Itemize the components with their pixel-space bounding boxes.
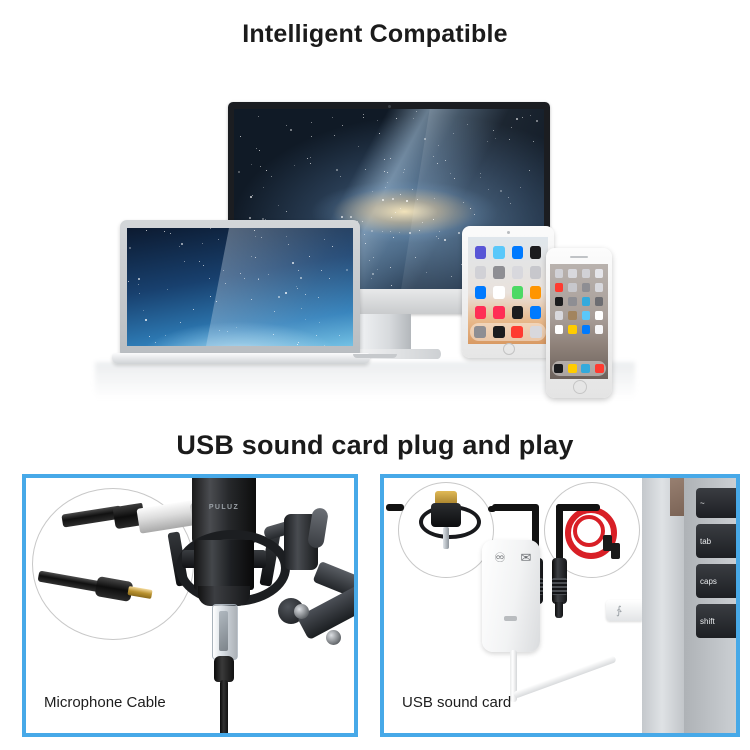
keyboard-key-shift[interactable]: shift	[696, 604, 740, 638]
app-icon[interactable]	[555, 283, 563, 292]
cable-plug	[611, 543, 620, 559]
dock-icon[interactable]	[474, 326, 486, 338]
screen-glare	[202, 228, 353, 346]
app-icon[interactable]	[512, 266, 523, 279]
ios-app-grid	[468, 237, 548, 319]
ipad-tablet	[462, 226, 554, 358]
microphone-cord	[220, 680, 228, 737]
mic-thumbnail-stem	[443, 527, 449, 549]
app-icon[interactable]	[568, 283, 576, 292]
cable-segment	[386, 504, 404, 511]
microphone-jack-tip	[555, 602, 563, 618]
app-icon[interactable]	[475, 246, 486, 259]
app-icon[interactable]	[582, 269, 590, 278]
microphone-base	[198, 586, 250, 606]
app-icon[interactable]	[512, 246, 523, 259]
app-icon[interactable]	[555, 325, 563, 334]
panel-label-microphone-cable: Microphone Cable	[44, 694, 166, 711]
microphone-stem-core	[219, 611, 228, 651]
microphone-callout-circle	[398, 482, 494, 578]
panel-usb-sound-card: ♾ ✉ ∱ ~ tab caps shift USB sound card	[380, 474, 740, 737]
usb-trident-icon: ∱	[616, 604, 622, 617]
page-title-bottom: USB sound card plug and play	[0, 430, 750, 461]
app-icon[interactable]	[512, 306, 523, 319]
app-icon[interactable]	[555, 297, 563, 306]
app-icon[interactable]	[582, 297, 590, 306]
product-infographic: Intelligent Compatible	[0, 0, 750, 750]
page-title-top: Intelligent Compatible	[0, 20, 750, 49]
app-icon[interactable]	[530, 246, 541, 259]
cable-segment	[556, 504, 563, 562]
keyboard-key-tab[interactable]: tab	[696, 524, 740, 558]
brand-logo: PULUZ	[196, 504, 252, 511]
earpiece-speaker	[570, 256, 588, 258]
app-icon[interactable]	[493, 266, 504, 279]
app-icon[interactable]	[595, 311, 603, 320]
app-icon[interactable]	[493, 306, 504, 319]
app-icon[interactable]	[475, 306, 486, 319]
home-button-icon	[573, 380, 587, 394]
ios-dock	[470, 323, 545, 341]
dock-icon[interactable]	[568, 364, 577, 373]
app-icon[interactable]	[555, 311, 563, 320]
app-icon[interactable]	[475, 266, 486, 279]
macbook-base	[112, 353, 370, 364]
dock-icon[interactable]	[530, 326, 542, 338]
usb-connector	[606, 600, 644, 621]
boom-knob	[326, 630, 341, 645]
ipad-screen	[468, 237, 548, 344]
microphone-plug	[214, 656, 234, 682]
compatible-devices-scene	[0, 70, 750, 420]
app-icon[interactable]	[512, 286, 523, 299]
app-icon[interactable]	[475, 286, 486, 299]
app-icon[interactable]	[493, 286, 504, 299]
dock-icon[interactable]	[595, 364, 604, 373]
mic-thumbnail-body	[431, 503, 461, 527]
iphone-screen	[550, 264, 608, 379]
keyboard-key-caps[interactable]: caps	[696, 564, 740, 598]
ipad-camera-icon	[507, 231, 510, 234]
usb-cable-run	[513, 655, 617, 699]
app-icon[interactable]	[568, 325, 576, 334]
cable-segment	[556, 504, 600, 511]
app-icon[interactable]	[582, 283, 590, 292]
macbook-lid	[120, 220, 360, 355]
microphone-body	[194, 540, 254, 590]
macbook-screen	[127, 228, 353, 346]
app-icon[interactable]	[568, 297, 576, 306]
app-icon[interactable]	[530, 306, 541, 319]
panel-microphone-cable: PULUZ Microphone Cable	[22, 474, 358, 737]
home-button-icon	[503, 343, 515, 355]
keyboard-key-tilde[interactable]: ~	[696, 488, 740, 518]
app-icon[interactable]	[595, 297, 603, 306]
microphone-jack-grip	[552, 578, 567, 595]
headphone-jack-icon: ♾	[492, 550, 508, 566]
app-icon[interactable]	[530, 286, 541, 299]
microphone-jack-icon: ✉	[518, 550, 534, 566]
app-icon[interactable]	[568, 269, 576, 278]
app-icon[interactable]	[595, 283, 603, 292]
boom-knob	[294, 604, 309, 619]
dock-icon[interactable]	[511, 326, 523, 338]
macbook-trackpad-notch	[353, 354, 397, 358]
app-icon[interactable]	[582, 311, 590, 320]
dock-icon[interactable]	[554, 364, 563, 373]
dock-icon[interactable]	[493, 326, 505, 338]
iphone-smartphone	[546, 248, 612, 398]
app-icon[interactable]	[530, 266, 541, 279]
imac-camera-icon	[388, 105, 391, 108]
app-icon[interactable]	[595, 325, 603, 334]
ios-app-grid	[550, 264, 608, 334]
status-led	[504, 616, 517, 621]
app-icon[interactable]	[493, 246, 504, 259]
app-icon[interactable]	[555, 269, 563, 278]
dock-icon[interactable]	[581, 364, 590, 373]
ios-dock	[552, 361, 607, 376]
panel-label-usb-sound-card: USB sound card	[402, 694, 511, 711]
red-coiled-cable-inner	[573, 515, 605, 547]
app-icon[interactable]	[595, 269, 603, 278]
app-icon[interactable]	[582, 325, 590, 334]
app-icon[interactable]	[568, 311, 576, 320]
